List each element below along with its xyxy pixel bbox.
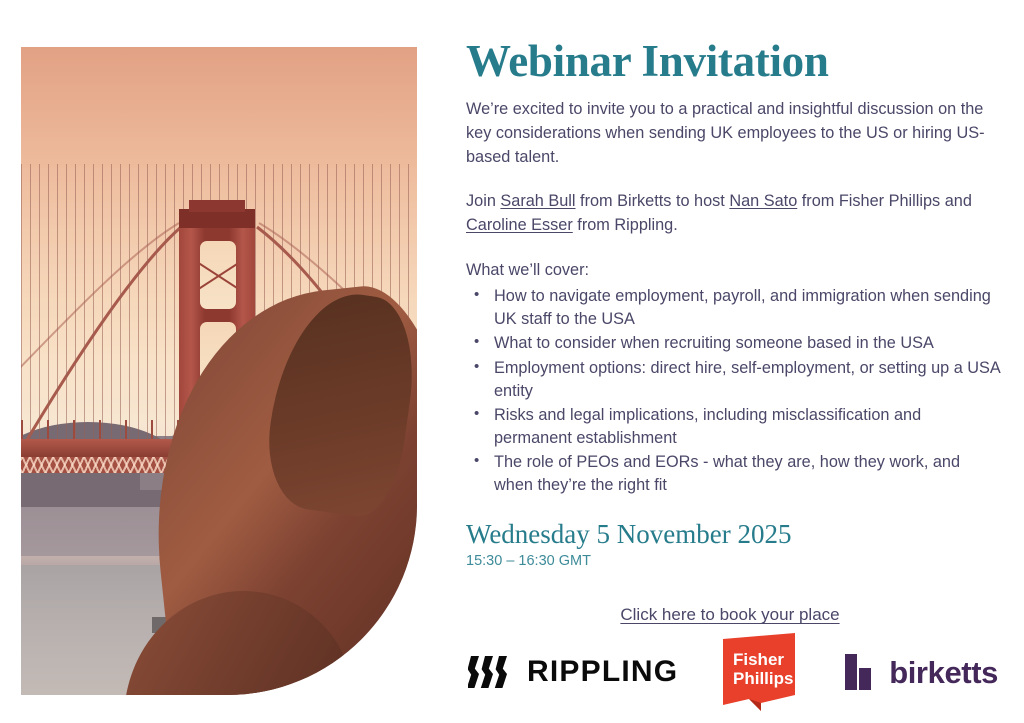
birketts-mark-icon (844, 652, 876, 692)
coverage-heading: What we’ll cover: (466, 259, 1000, 283)
tower-x-brace (200, 241, 236, 309)
list-item: The role of PEOs and EORs - what they ar… (466, 451, 1000, 497)
hosts-mid-2: from Fisher Phillips and (797, 192, 972, 210)
speaker-link-caroline-esser[interactable]: Caroline Esser (466, 216, 573, 234)
coverage-list: How to navigate employment, payroll, and… (466, 285, 1000, 497)
hosts-mid-1: from Birketts to host (576, 192, 730, 210)
event-date: Wednesday 5 November 2025 (466, 519, 1000, 550)
partner-logo-row: RIPPLING Fisher Phillips birketts (466, 632, 1000, 712)
tower-cap (189, 200, 244, 212)
list-item: How to navigate employment, payroll, and… (466, 285, 1000, 331)
book-your-place-link[interactable]: Click here to book your place (620, 605, 839, 624)
fisher-line-1: Fisher (733, 650, 784, 669)
page-title: Webinar Invitation (466, 38, 1000, 86)
birketts-wordmark: birketts (889, 657, 998, 688)
fisher-phillips-logo[interactable]: Fisher Phillips (719, 633, 803, 711)
speaker-link-sarah-bull[interactable]: Sarah Bull (500, 192, 575, 210)
hosts-paragraph: Join Sarah Bull from Birketts to host Na… (466, 190, 998, 238)
list-item: Risks and legal implications, including … (466, 404, 1000, 450)
intro-paragraph: We’re excited to invite you to a practic… (466, 98, 998, 170)
invitation-content: Webinar Invitation We’re excited to invi… (466, 38, 1000, 625)
hosts-prefix: Join (466, 192, 500, 210)
tower-top-band (179, 209, 254, 228)
rippling-mark-icon (468, 654, 514, 690)
birketts-logo[interactable]: birketts (844, 652, 998, 692)
cta-container: Click here to book your place (466, 605, 1000, 625)
rippling-logo[interactable]: RIPPLING (468, 654, 678, 690)
fisher-line-2: Phillips (733, 669, 793, 688)
fisher-phillips-banner-icon: Fisher Phillips (719, 633, 803, 711)
photo-inner (21, 47, 417, 695)
list-item: Employment options: direct hire, self-em… (466, 357, 1000, 403)
speaker-link-nan-sato[interactable]: Nan Sato (729, 192, 797, 210)
list-item: What to consider when recruiting someone… (466, 332, 1000, 355)
hosts-suffix: from Rippling. (573, 216, 678, 234)
rippling-wordmark: RIPPLING (527, 657, 678, 687)
event-time: 15:30 – 16:30 GMT (466, 552, 1000, 571)
golden-gate-bridge-photo (21, 47, 417, 695)
